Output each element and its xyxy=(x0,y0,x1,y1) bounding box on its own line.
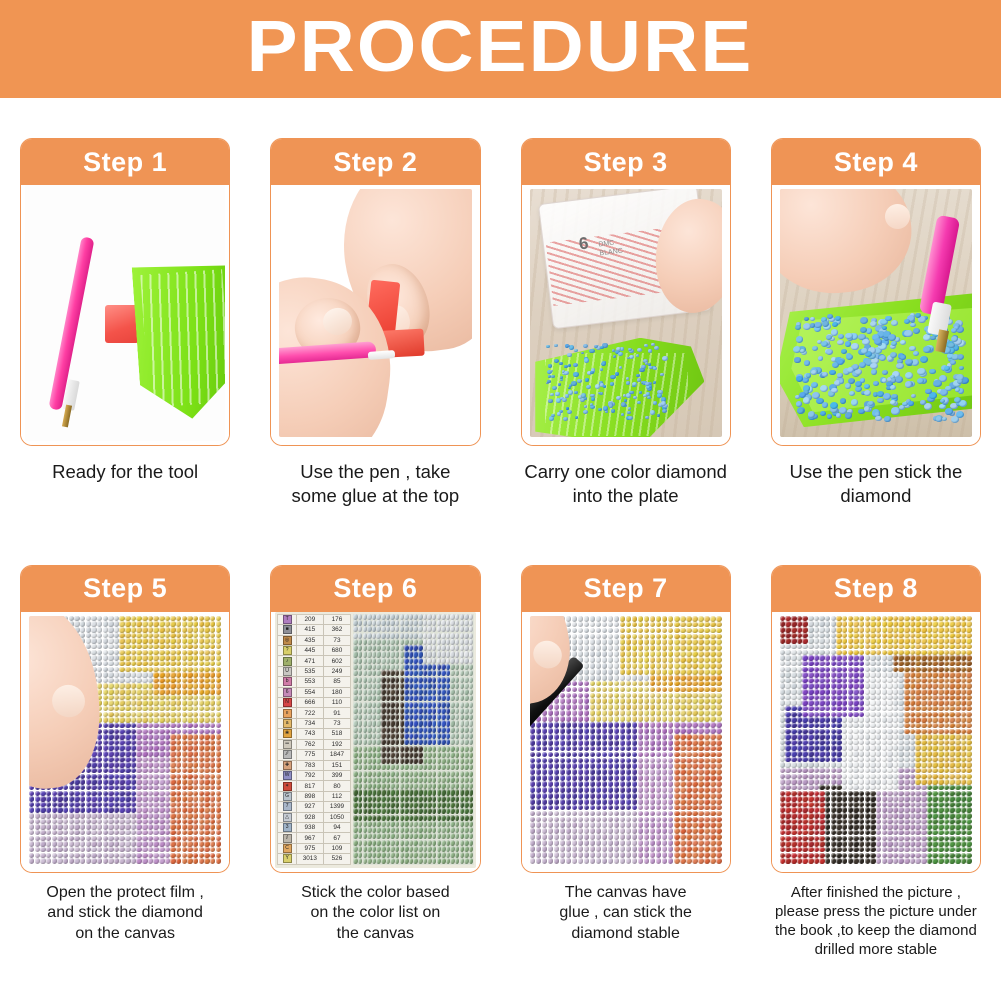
diamond-bead-icon xyxy=(548,787,554,793)
diamond-bead-icon xyxy=(108,853,113,858)
diamond-bead-icon xyxy=(395,614,399,620)
diamond-bead-icon xyxy=(572,805,578,811)
diamond-bead-icon xyxy=(955,655,960,660)
diamond-bead-icon xyxy=(686,704,692,710)
color-swatch-icon: 3 xyxy=(283,823,292,832)
diamond-bead-icon xyxy=(578,805,584,811)
diamond-bead-icon xyxy=(848,644,853,649)
diamond-bead-icon xyxy=(704,834,710,840)
diamond-bead-icon xyxy=(542,799,548,805)
green-tray-icon xyxy=(132,261,225,422)
diamond-bead-icon xyxy=(182,836,187,841)
diamond-bead-icon xyxy=(216,689,221,694)
diamond-bead-icon xyxy=(944,627,949,632)
diamond-bead-icon xyxy=(876,616,881,621)
diamond-bead-icon xyxy=(644,781,650,787)
diamond-bead-icon xyxy=(52,853,57,858)
diamond-bead-icon xyxy=(216,785,221,790)
diamond-bead-icon xyxy=(808,667,813,672)
diamond-bead-icon xyxy=(469,702,473,708)
diamond-bead-icon xyxy=(210,700,215,705)
diamond-bead-icon xyxy=(961,644,966,649)
diamond-bead-icon xyxy=(927,627,932,632)
diamond-bead-icon xyxy=(633,396,637,399)
diamond-bead-icon xyxy=(590,781,596,787)
diamond-bead-icon xyxy=(578,734,584,740)
diamond-bead-icon xyxy=(182,858,187,863)
color-symbol-cell: ═ xyxy=(278,740,297,749)
diamond-bead-icon xyxy=(710,758,716,764)
diamond-bead-icon xyxy=(441,746,445,752)
diamond-bead-icon xyxy=(404,771,408,777)
diamond-bead-icon xyxy=(632,799,638,805)
diamond-bead-icon xyxy=(710,781,716,787)
caption-line: Ready for the tool xyxy=(20,460,230,484)
diamond-bead-icon xyxy=(608,710,614,716)
diamond-bead-icon xyxy=(562,398,567,402)
diamond-bead-icon xyxy=(853,661,858,666)
diamond-bead-icon xyxy=(204,706,209,711)
diamond-bead-icon xyxy=(614,769,620,775)
diamond-bead-icon xyxy=(381,764,385,770)
diamond-bead-icon xyxy=(108,627,113,632)
diamond-bead-icon xyxy=(381,720,385,726)
diamond-bead-icon xyxy=(29,858,34,863)
diamond-bead-icon xyxy=(395,771,399,777)
diamond-bead-icon xyxy=(125,700,130,705)
diamond-bead-icon xyxy=(650,645,656,651)
diamond-bead-icon xyxy=(182,740,187,745)
diamond-bead-icon xyxy=(680,763,686,769)
diamond-bead-icon xyxy=(785,616,790,621)
diamond-bead-icon xyxy=(131,712,136,717)
diamond-bead-icon xyxy=(455,846,459,852)
step-card-7[interactable]: Step 7 xyxy=(521,565,731,873)
diamond-bead-icon xyxy=(961,661,966,666)
diamond-bead-icon xyxy=(530,740,536,746)
diamond-bead-icon xyxy=(680,840,686,846)
diamond-bead-icon xyxy=(632,382,637,386)
diamond-bead-icon xyxy=(662,409,667,413)
diamond-bead-icon xyxy=(698,728,704,734)
diamond-bead-icon xyxy=(680,799,686,805)
color-list-row: G898112 xyxy=(278,792,350,802)
diamond-bead-icon xyxy=(638,634,644,640)
color-symbol-cell: ♪ xyxy=(278,656,297,665)
diamond-bead-icon xyxy=(674,834,680,840)
diamond-bead-icon xyxy=(404,708,408,714)
diamond-bead-icon xyxy=(536,858,542,864)
diamond-bead-icon xyxy=(199,616,204,621)
diamond-bead-icon xyxy=(125,712,130,717)
step-card-3[interactable]: Step 3 6 DMCBLANC xyxy=(521,138,731,446)
diamond-bead-icon xyxy=(904,661,909,666)
diamond-bead-icon xyxy=(566,734,572,740)
diamond-bead-icon xyxy=(404,633,408,639)
diamond-bead-icon xyxy=(620,651,626,657)
diamond-bead-icon xyxy=(182,830,187,835)
diamond-bead-icon xyxy=(148,678,153,683)
diamond-bead-icon xyxy=(966,638,971,643)
diamond-bead-icon xyxy=(641,365,646,369)
diamond-bead-icon xyxy=(644,852,650,858)
diamond-bead-icon xyxy=(455,633,459,639)
diamond-bead-icon xyxy=(698,817,704,823)
diamond-bead-icon xyxy=(187,712,192,717)
diamond-bead-icon xyxy=(825,627,830,632)
diamond-bead-icon xyxy=(86,638,91,643)
diamond-bead-icon xyxy=(159,706,164,711)
diamond-bead-icon xyxy=(578,775,584,781)
diamond-bead-icon xyxy=(381,746,385,752)
diamond-bead-icon xyxy=(927,644,932,649)
diamond-bead-icon xyxy=(596,769,602,775)
diamond-bead-icon xyxy=(80,813,85,818)
diamond-bead-icon xyxy=(404,833,408,839)
step-card-5[interactable]: Step 5 xyxy=(20,565,230,873)
diamond-bead-icon xyxy=(610,375,615,380)
diamond-bead-icon xyxy=(873,381,878,386)
diamond-bead-icon xyxy=(455,746,459,752)
diamond-bead-icon xyxy=(69,858,74,863)
diamond-bead-icon xyxy=(142,712,147,717)
step-header-3: Step 3 xyxy=(522,139,730,185)
diamond-bead-icon xyxy=(86,841,91,846)
diamond-bead-icon xyxy=(153,712,158,717)
diamond-bead-icon xyxy=(148,779,153,784)
diamond-bead-icon xyxy=(698,645,704,651)
diamond-bead-icon xyxy=(865,650,870,655)
diamond-bead-icon xyxy=(125,740,130,745)
color-count-cell: 110 xyxy=(324,698,351,707)
diamond-bead-icon xyxy=(199,836,204,841)
diamond-bead-icon xyxy=(170,700,175,705)
diamond-bead-icon xyxy=(395,733,399,739)
diamond-bead-icon xyxy=(656,675,662,681)
diamond-bead-icon xyxy=(716,681,722,687)
diamond-bead-icon xyxy=(548,828,554,834)
diamond-bead-icon xyxy=(716,846,722,852)
diamond-bead-icon xyxy=(614,852,620,858)
diamond-bead-icon xyxy=(865,678,870,683)
diamond-bead-icon xyxy=(692,675,698,681)
diamond-bead-icon xyxy=(961,650,966,655)
diamond-bead-icon xyxy=(204,785,209,790)
diamond-bead-icon xyxy=(626,846,632,852)
step-body-4 xyxy=(772,185,980,445)
diamond-bead-icon xyxy=(469,796,473,802)
diamond-bead-icon xyxy=(395,720,399,726)
diamond-bead-icon xyxy=(674,704,680,710)
diamond-bead-icon xyxy=(791,672,796,677)
diamond-bead-icon xyxy=(644,858,650,864)
diamond-bead-icon xyxy=(915,616,920,621)
diamond-bead-icon xyxy=(644,710,650,716)
diamond-bead-icon xyxy=(182,689,187,694)
diamond-bead-icon xyxy=(853,627,858,632)
diamond-bead-icon xyxy=(108,650,113,655)
diamond-bead-icon xyxy=(656,622,662,628)
step-card-8[interactable]: Step 8 xyxy=(771,565,981,873)
diamond-bead-icon xyxy=(602,716,608,722)
color-count-cell: 1399 xyxy=(324,802,351,811)
diamond-bead-icon xyxy=(674,622,680,628)
diamond-bead-icon xyxy=(176,774,181,779)
diamond-bead-icon xyxy=(395,633,399,639)
diamond-bead-icon xyxy=(870,616,875,621)
diamond-bead-icon xyxy=(119,751,124,756)
diamond-bead-icon xyxy=(418,808,422,814)
diamond-bead-icon xyxy=(114,678,119,683)
diamond-bead-icon xyxy=(52,813,57,818)
diamond-bead-icon xyxy=(165,751,170,756)
diamond-bead-icon xyxy=(814,650,819,655)
diamond-bead-icon xyxy=(199,791,204,796)
diamond-bead-icon xyxy=(848,672,853,677)
diamond-bead-icon xyxy=(590,728,596,734)
diamond-bead-icon xyxy=(119,774,124,779)
diamond-bead-icon xyxy=(836,621,841,626)
caption-line: Use the pen stick the xyxy=(771,460,981,484)
diamond-bead-icon xyxy=(674,758,680,764)
diamond-bead-icon xyxy=(159,633,164,638)
diamond-bead-icon xyxy=(131,616,136,621)
diamond-bead-icon xyxy=(639,391,642,394)
diamond-bead-icon xyxy=(358,702,362,708)
diamond-bead-icon xyxy=(187,796,192,801)
diamond-bead-icon xyxy=(887,672,892,677)
diamond-bead-icon xyxy=(159,757,164,762)
diamond-bead-icon xyxy=(814,322,821,328)
diamond-bead-icon xyxy=(80,847,85,852)
diamond-bead-icon xyxy=(97,633,102,638)
diamond-bead-icon xyxy=(602,639,608,645)
diamond-bead-icon xyxy=(680,698,686,704)
diamond-bead-icon xyxy=(114,841,119,846)
diamond-bead-icon xyxy=(182,706,187,711)
diamond-bead-icon xyxy=(142,683,147,688)
diamond-bead-icon xyxy=(629,391,633,395)
diamond-bead-icon xyxy=(927,655,932,660)
diamond-bead-icon xyxy=(602,622,608,628)
diamond-bead-icon xyxy=(542,769,548,775)
diamond-bead-icon xyxy=(716,746,722,752)
diamond-bead-icon xyxy=(148,672,153,677)
diamond-bead-icon xyxy=(626,704,632,710)
diamond-bead-icon xyxy=(159,621,164,626)
diamond-bead-icon xyxy=(802,678,807,683)
diamond-bead-icon xyxy=(210,712,215,717)
diamond-bead-icon xyxy=(432,783,436,789)
diamond-bead-icon xyxy=(584,645,590,651)
color-code-cell: 817 xyxy=(297,781,324,790)
diamond-bead-icon xyxy=(626,728,632,734)
color-swatch-icon: C xyxy=(283,844,292,853)
diamond-bead-icon xyxy=(142,824,147,829)
diamond-bead-icon xyxy=(119,678,124,683)
diamond-bead-icon xyxy=(584,634,590,640)
diamond-bead-icon xyxy=(710,799,716,805)
step-card-1[interactable]: Step 1 xyxy=(20,138,230,446)
color-code-cell: 554 xyxy=(297,688,324,697)
diamond-bead-icon xyxy=(103,678,108,683)
diamond-bead-icon xyxy=(680,787,686,793)
color-symbol-cell: ? xyxy=(278,646,297,655)
diamond-bead-icon xyxy=(29,836,34,841)
diamond-bead-icon xyxy=(882,378,888,383)
diamond-bead-icon xyxy=(608,645,614,651)
diamond-bead-icon xyxy=(153,841,158,846)
diamond-bead-icon xyxy=(108,644,113,649)
diamond-bead-icon xyxy=(176,847,181,852)
diamond-bead-icon xyxy=(620,734,626,740)
diamond-bead-icon xyxy=(97,779,102,784)
diamond-bead-icon xyxy=(57,791,62,796)
color-swatch-icon: G xyxy=(283,792,292,801)
diamond-bead-icon xyxy=(692,775,698,781)
diamond-bead-icon xyxy=(103,717,108,722)
diamond-bead-icon xyxy=(791,661,796,666)
step-card-2[interactable]: Step 2 xyxy=(270,138,480,446)
diamond-bead-icon xyxy=(819,616,824,621)
diamond-bead-icon xyxy=(204,695,209,700)
diamond-bead-icon xyxy=(216,695,221,700)
diamond-bead-icon xyxy=(114,650,119,655)
diamond-bead-icon xyxy=(395,620,399,626)
diamond-bead-icon xyxy=(870,644,875,649)
diamond-bead-icon xyxy=(199,712,204,717)
diamond-bead-icon xyxy=(692,722,698,728)
diamond-bead-icon xyxy=(785,638,790,643)
diamond-bead-icon xyxy=(187,824,192,829)
diamond-bead-icon xyxy=(204,740,209,745)
diamond-bead-icon xyxy=(859,672,864,677)
diamond-bead-icon xyxy=(686,651,692,657)
diamond-bead-icon xyxy=(148,751,153,756)
diamond-bead-icon xyxy=(632,846,638,852)
diamond-bead-icon xyxy=(596,716,602,722)
diamond-bead-icon xyxy=(704,698,710,704)
diamond-bead-icon xyxy=(159,672,164,677)
diamond-bead-icon xyxy=(632,834,638,840)
diamond-bead-icon xyxy=(131,751,136,756)
diamond-bead-icon xyxy=(638,710,644,716)
diamond-bead-icon xyxy=(662,639,668,645)
diamond-bead-icon xyxy=(441,858,445,864)
diamond-bead-icon xyxy=(536,763,542,769)
diamond-bead-icon xyxy=(91,853,96,858)
diamond-bead-icon xyxy=(584,846,590,852)
diamond-bead-icon xyxy=(692,852,698,858)
diamond-bead-icon xyxy=(608,716,614,722)
diamond-bead-icon xyxy=(216,723,221,728)
diamond-bead-icon xyxy=(210,689,215,694)
diamond-bead-icon xyxy=(159,847,164,852)
diamond-bead-icon xyxy=(187,683,192,688)
diamond-bead-icon xyxy=(596,675,602,681)
diamond-bead-icon xyxy=(680,805,686,811)
diamond-bead-icon xyxy=(584,775,590,781)
diamond-bead-icon xyxy=(656,681,662,687)
diamond-bead-icon xyxy=(929,369,935,375)
diamond-bead-icon xyxy=(668,758,674,764)
diamond-bead-icon xyxy=(199,734,204,739)
diamond-bead-icon xyxy=(825,616,830,621)
diamond-bead-icon xyxy=(674,634,680,640)
color-count-cell: 112 xyxy=(324,792,351,801)
caption-line: diamond stable xyxy=(521,924,731,944)
diamond-bead-icon xyxy=(680,704,686,710)
diamond-bead-icon xyxy=(632,675,638,681)
diamond-bead-icon xyxy=(594,345,598,348)
step-card-4[interactable]: Step 4 xyxy=(771,138,981,446)
diamond-bead-icon xyxy=(395,802,399,808)
diamond-bead-icon xyxy=(602,769,608,775)
diamond-bead-icon xyxy=(626,828,632,834)
diamond-bead-icon xyxy=(560,710,566,716)
diamond-bead-icon xyxy=(680,817,686,823)
diamond-bead-icon xyxy=(210,774,215,779)
diamond-bead-icon xyxy=(86,627,91,632)
diamond-bead-icon xyxy=(692,710,698,716)
diamond-bead-icon xyxy=(804,317,810,322)
diamond-bead-icon xyxy=(441,702,445,708)
diamond-bead-icon xyxy=(530,811,536,817)
step-card-6[interactable]: Step 6 T209176■415362◎43573?445680♪47160… xyxy=(270,565,480,873)
diamond-bead-icon xyxy=(716,634,722,640)
diamond-bead-icon xyxy=(876,638,881,643)
diamond-bead-icon xyxy=(136,678,141,683)
diamond-bead-icon xyxy=(704,811,710,817)
diamond-bead-icon xyxy=(608,769,614,775)
diamond-bead-icon xyxy=(418,771,422,777)
diamond-bead-icon xyxy=(566,775,572,781)
diamond-bead-icon xyxy=(656,793,662,799)
diamond-bead-icon xyxy=(620,840,626,846)
diamond-bead-icon xyxy=(819,644,824,649)
diamond-bead-icon xyxy=(620,805,626,811)
diamond-bead-icon xyxy=(91,768,96,773)
diamond-bead-icon xyxy=(959,366,964,370)
diamond-bead-icon xyxy=(710,852,716,858)
diamond-bead-icon xyxy=(802,650,807,655)
diamond-bead-icon xyxy=(662,793,668,799)
diamond-bead-icon xyxy=(52,858,57,863)
diamond-bead-icon xyxy=(69,847,74,852)
diamond-bead-icon xyxy=(859,678,864,683)
diamond-bead-icon xyxy=(557,412,562,416)
diamond-bead-icon xyxy=(692,758,698,764)
diamond-bead-icon xyxy=(74,858,79,863)
diamond-bead-icon xyxy=(530,828,536,834)
diamond-bead-icon xyxy=(418,815,422,821)
diamond-bead-icon xyxy=(560,811,566,817)
diamond-bead-icon xyxy=(404,808,408,814)
diamond-bead-icon xyxy=(554,722,560,728)
diamond-bead-icon xyxy=(418,702,422,708)
diamond-bead-icon xyxy=(57,813,62,818)
diamond-bead-icon xyxy=(704,628,710,634)
diamond-bead-icon xyxy=(193,740,198,745)
diamond-bead-icon xyxy=(940,399,945,403)
diamond-bead-icon xyxy=(63,791,68,796)
diamond-bead-icon xyxy=(674,793,680,799)
diamond-bead-icon xyxy=(680,687,686,693)
diamond-bead-icon xyxy=(204,853,209,858)
diamond-bead-icon xyxy=(614,657,620,663)
diamond-bead-icon xyxy=(819,650,824,655)
diamond-bead-icon xyxy=(698,799,704,805)
